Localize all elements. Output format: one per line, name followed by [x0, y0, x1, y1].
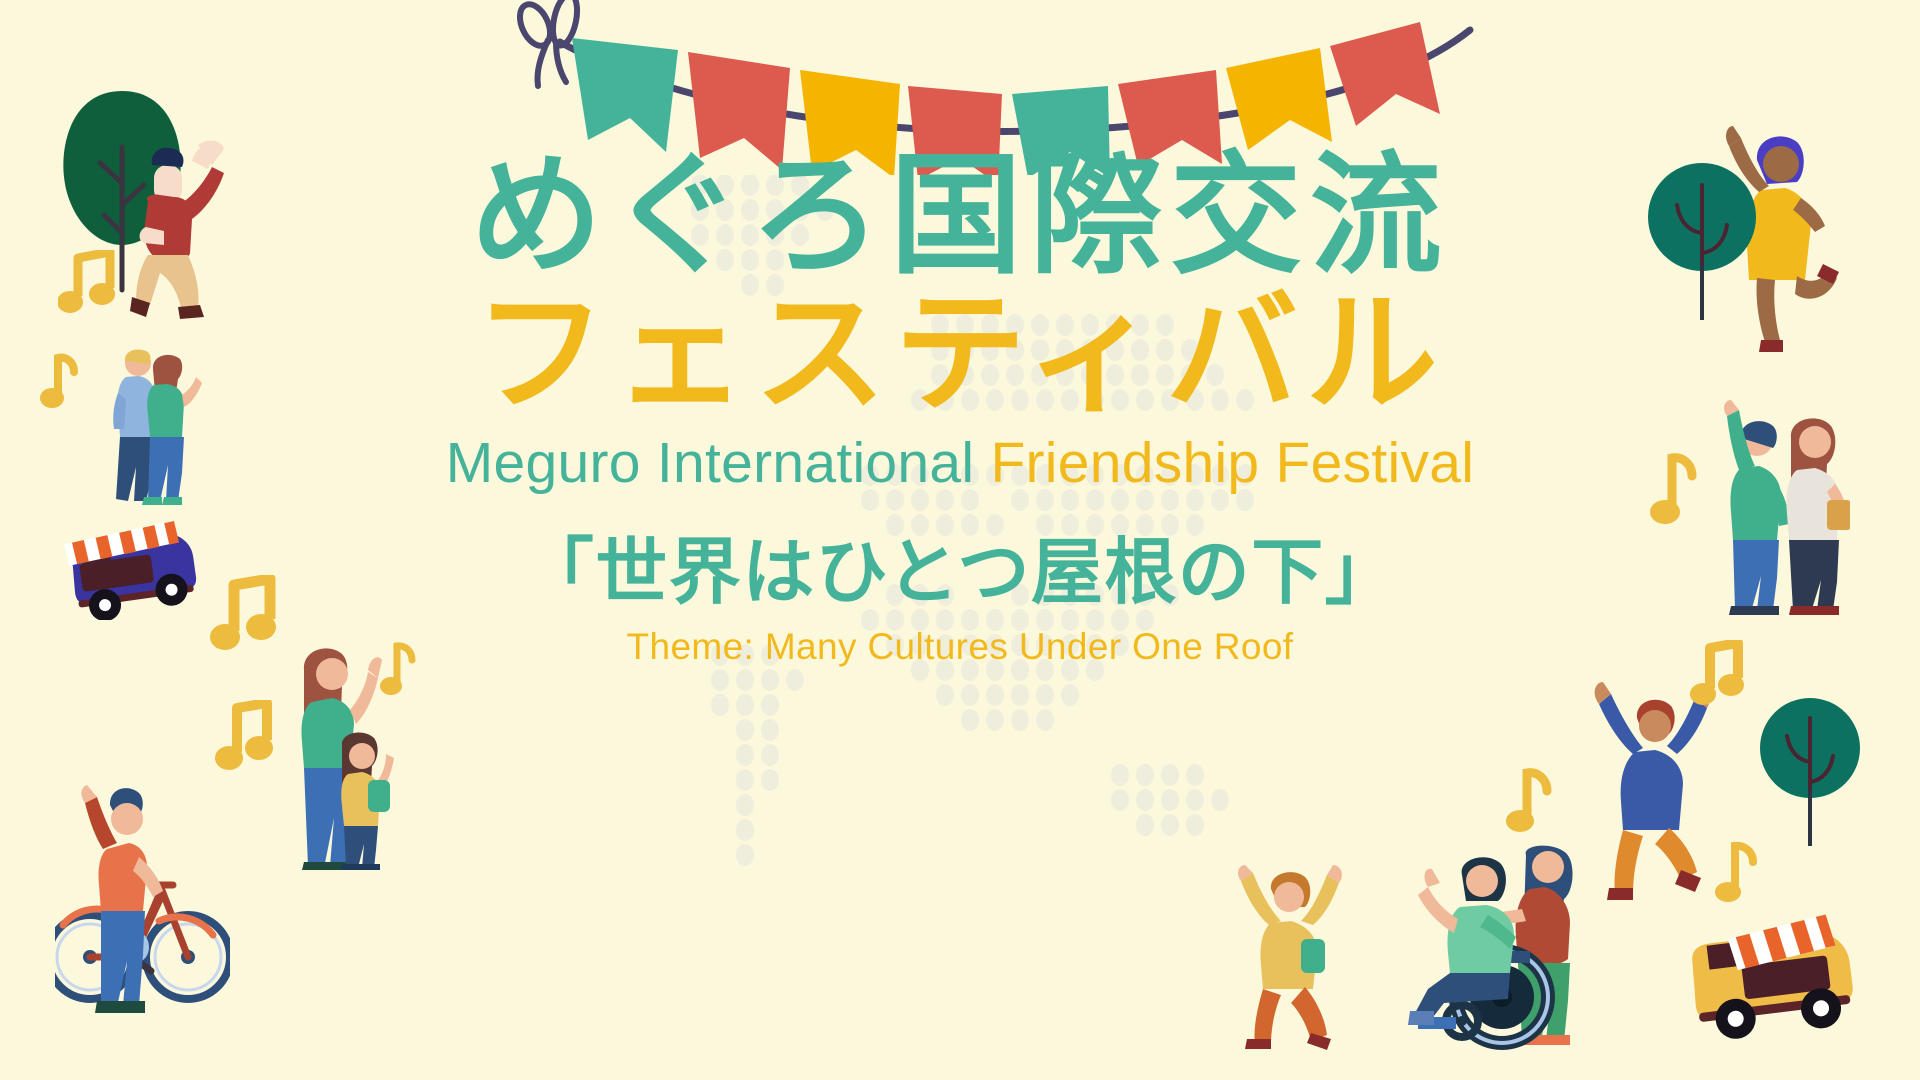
- ribbon-bow-icon: [514, 0, 581, 86]
- poster-text-block: めぐろ国際交流 フェスティバル Meguro International Fri…: [0, 150, 1920, 668]
- music-note-beamed-icon: [215, 700, 277, 778]
- subtitle-english-yellow: Friendship Festival: [990, 431, 1474, 495]
- theme-japanese: 「世界はひとつ屋根の下」: [0, 536, 1920, 608]
- music-note-single-icon: [1505, 765, 1561, 835]
- food-truck-yellow-icon: [1680, 900, 1865, 1040]
- title-japanese-line-1: めぐろ国際交流: [0, 150, 1920, 282]
- subtitle-english: Meguro International Friendship Festival: [0, 434, 1920, 494]
- mother-and-child-icon: [280, 640, 410, 870]
- title-japanese-line-2: フェスティバル: [0, 288, 1920, 420]
- subtitle-english-teal: Meguro International: [446, 431, 975, 495]
- bunting-flag: [1330, 22, 1440, 126]
- music-note-single-icon: [1715, 840, 1767, 906]
- cyclist-waving-icon: [55, 775, 230, 1025]
- bunting-flag: [1226, 48, 1332, 150]
- wheelchair-pair-icon: [1400, 845, 1615, 1060]
- bunting-flag: [572, 38, 678, 152]
- festival-poster: めぐろ国際交流 フェスティバル Meguro International Fri…: [0, 0, 1920, 1080]
- tree-round-teal-icon: [1755, 690, 1865, 850]
- child-running-icon: [1235, 865, 1345, 1050]
- theme-english: Theme: Many Cultures Under One Roof: [0, 626, 1920, 668]
